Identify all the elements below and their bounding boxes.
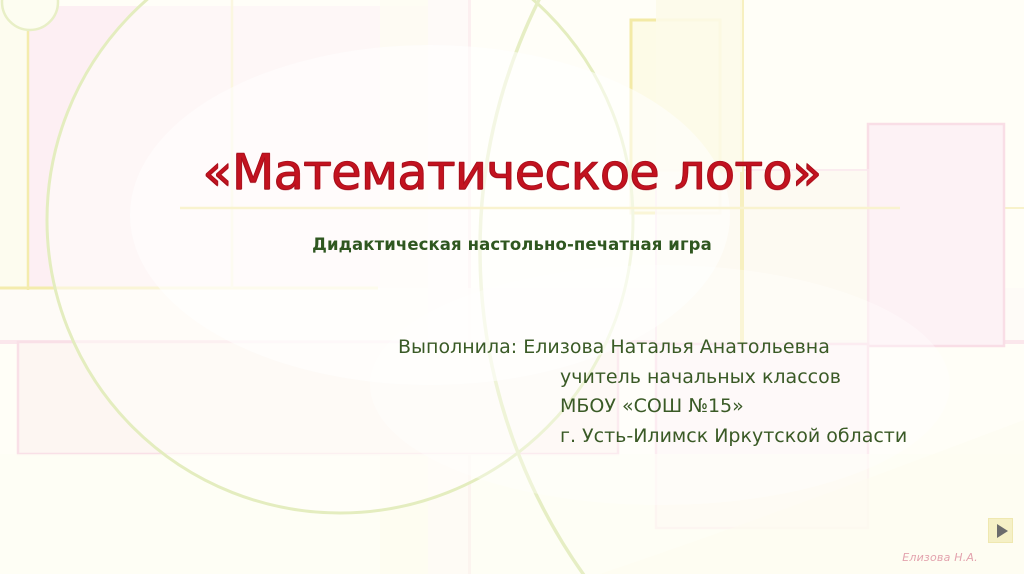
next-slide-button[interactable]	[988, 518, 1013, 543]
slide-subtitle: Дидактическая настольно-печатная игра	[0, 235, 1024, 254]
author-block: Выполнила: Елизова Наталья Анатольевна у…	[398, 333, 943, 451]
page-title: «Математическое лото»	[0, 146, 1024, 200]
author-line-city: г. Усть-Илимск Иркутской области	[398, 422, 943, 452]
play-triangle-icon	[997, 524, 1008, 538]
author-line-school: МБОУ «СОШ №15»	[398, 392, 943, 422]
presentation-slide: «Математическое лото» Дидактическая наст…	[0, 0, 1024, 574]
author-line-role: учитель начальных классов	[398, 363, 943, 393]
slide-content: «Математическое лото» Дидактическая наст…	[0, 0, 1024, 574]
author-signature: Елизова Н.А.	[860, 551, 1020, 564]
author-line-name: Выполнила: Елизова Наталья Анатольевна	[398, 333, 943, 363]
